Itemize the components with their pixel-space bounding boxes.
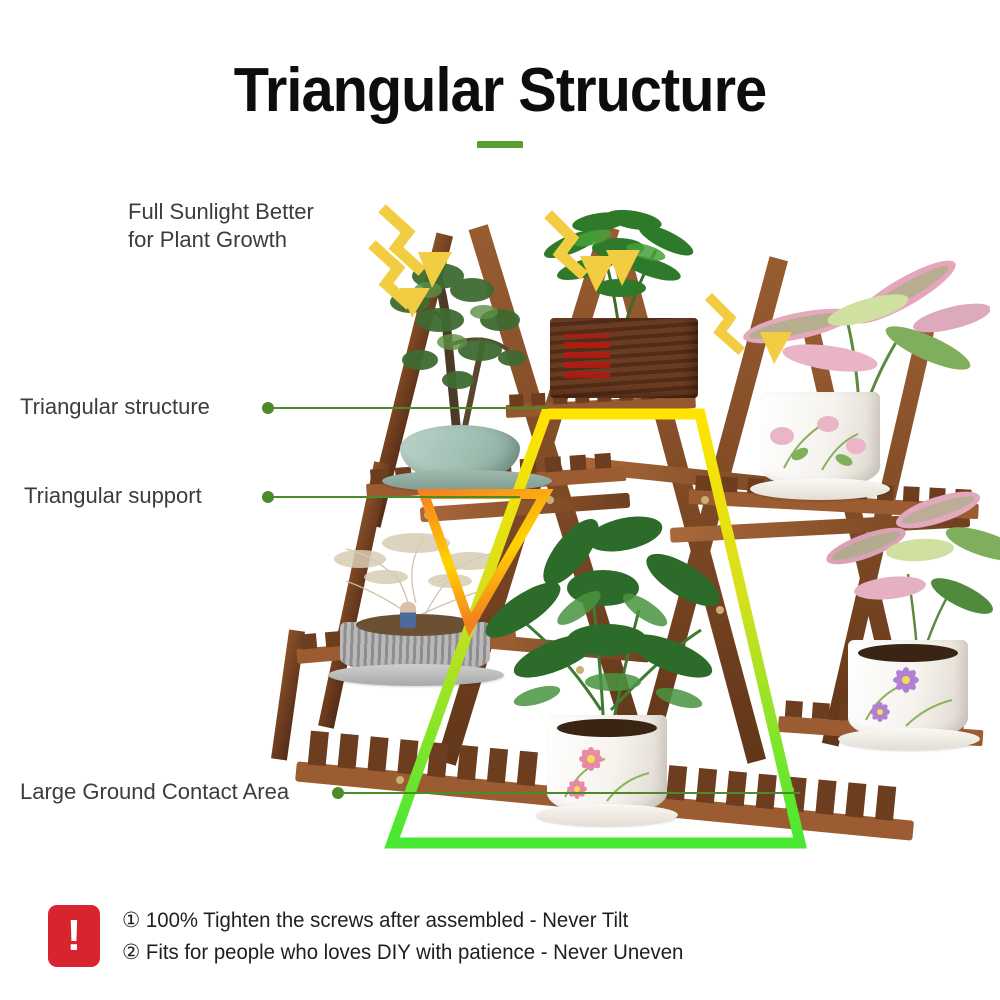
infographic-canvas: Triangular Structure — [0, 0, 1000, 1000]
product-photo — [250, 170, 990, 860]
saucer-lower-right — [838, 728, 980, 750]
callout-ground-contact: Large Ground Contact Area — [20, 779, 289, 805]
plant-bonsai-tree — [380, 250, 550, 450]
callout-triangular-structure: Triangular structure — [20, 394, 210, 420]
pot-bark-planter — [550, 318, 698, 398]
footer-notes-list: ① 100% Tighten the screws after assemble… — [122, 908, 701, 965]
callout-sunlight-line2: for Plant Growth — [128, 226, 314, 254]
footer-note-1: ① 100% Tighten the screws after assemble… — [122, 908, 683, 933]
callout-sunlight-line1: Full Sunlight Better — [128, 198, 314, 226]
bonsai-figurine — [400, 602, 416, 628]
pot-white-purple-daisy — [848, 640, 968, 740]
daisy-purple-2 — [870, 702, 890, 722]
saucer-center — [536, 804, 678, 826]
callout-sunlight: Full Sunlight Better for Plant Growth — [128, 198, 314, 254]
exclamation-mark-icon: ! — [48, 905, 100, 967]
footer-note-2: ② Fits for people who loves DIY with pat… — [122, 940, 683, 965]
title-accent-rule — [477, 141, 523, 148]
page-title: Triangular Structure — [35, 58, 965, 123]
daisy-pink-2 — [567, 779, 587, 799]
planter-chinese-text — [564, 334, 610, 378]
daisy-pink — [579, 747, 603, 771]
callout-triangular-support: Triangular support — [24, 483, 202, 509]
daisy-purple — [893, 667, 919, 693]
pot-white-daisy-center — [547, 715, 667, 815]
footer-warning: ! ① 100% Tighten the screws after assemb… — [48, 905, 701, 967]
